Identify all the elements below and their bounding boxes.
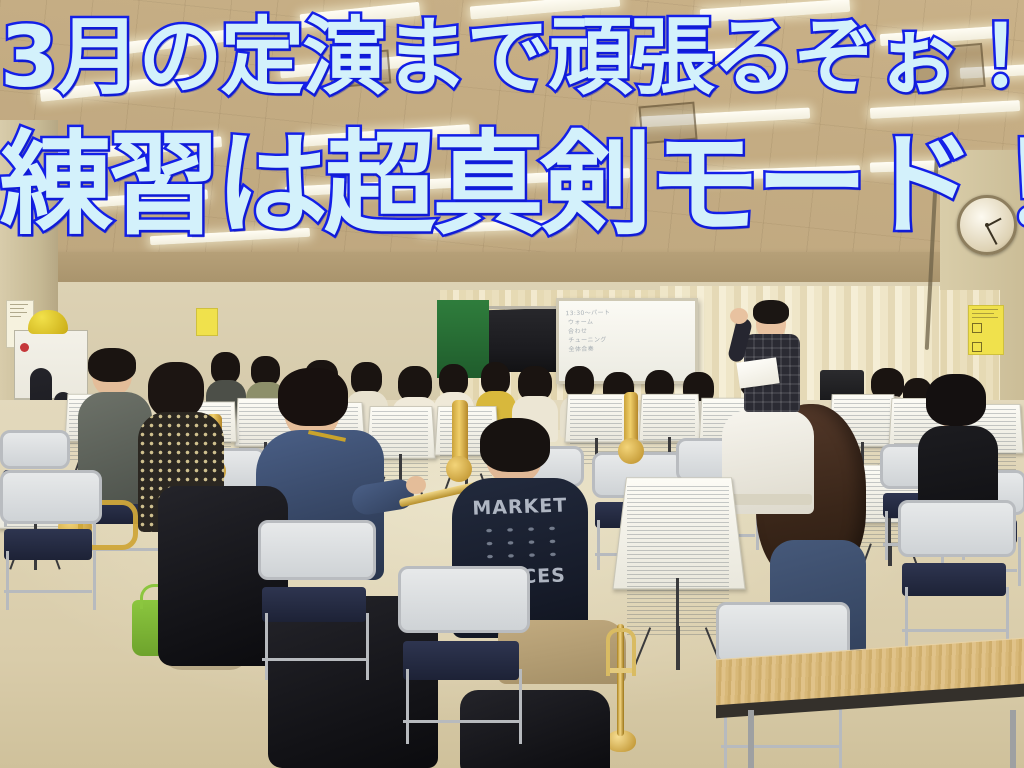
wall-clock <box>957 195 1017 255</box>
ceiling-vent <box>908 43 986 93</box>
ceiling-vent <box>638 102 697 145</box>
stand-tripod <box>641 626 715 670</box>
whiteboard-handwriting: 13:30〜パート ウォーム 合わせ チューニング 全体合奏 <box>565 307 682 371</box>
chair-rail <box>262 658 365 661</box>
chair-back <box>898 500 1016 557</box>
hair <box>753 300 789 324</box>
chair-legs <box>6 551 96 610</box>
chair-rail <box>4 590 92 593</box>
folding-chair-fg-1 <box>258 520 370 680</box>
hair <box>480 418 550 472</box>
chair-legs <box>406 669 523 744</box>
raised-hand <box>730 308 748 324</box>
notice-pictogram-2 <box>972 342 982 352</box>
hand <box>406 476 426 494</box>
folding-table <box>716 648 1024 768</box>
emergency-button-icon <box>20 343 29 352</box>
chair-rail <box>902 629 1005 632</box>
hoodie-badge-row <box>478 522 563 563</box>
saxophone-bell <box>618 438 644 464</box>
chair-legs <box>265 613 370 680</box>
wall-notice-center-yellow <box>196 308 218 336</box>
wall-notice-right-yellow <box>968 305 1004 355</box>
belt <box>724 494 812 505</box>
chair-back <box>0 470 102 524</box>
folding-chair-fg-4 <box>898 500 1010 650</box>
trumpet-valves <box>610 668 632 673</box>
chair-back <box>258 520 376 580</box>
notice-pictogram-1 <box>972 323 982 333</box>
hair <box>88 348 136 382</box>
hoodie-graphic-top: MARKET <box>472 494 568 519</box>
hair <box>926 374 986 426</box>
folding-chair-fg-2 <box>398 566 524 744</box>
table-legs <box>748 710 1016 768</box>
ceiling-beam <box>0 252 1024 286</box>
photo-canvas: 13:30〜パート ウォーム 合わせ チューニング 全体合奏 <box>0 0 1024 768</box>
hair <box>278 368 348 426</box>
ceiling-vent <box>329 49 392 88</box>
score-sheet <box>736 357 779 388</box>
chair-back <box>0 430 70 469</box>
chair-rail <box>403 720 519 723</box>
hair <box>148 362 204 418</box>
chair-back <box>398 566 530 633</box>
saxophone-bell <box>446 456 472 482</box>
folding-chair-fg-5 <box>0 470 96 610</box>
